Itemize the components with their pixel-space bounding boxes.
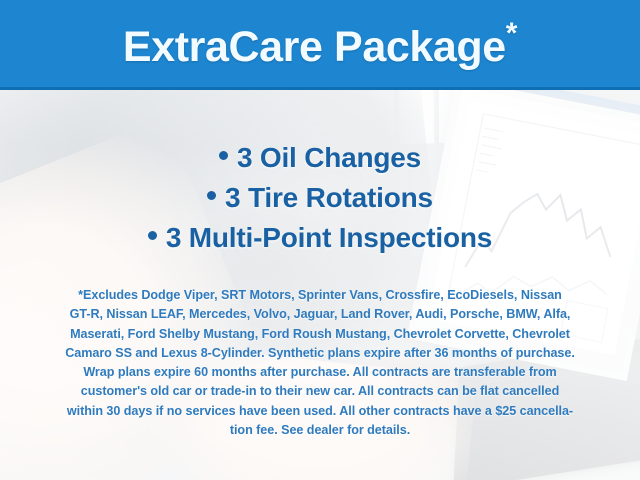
- disclaimer-line: within 30 days if no services have been …: [28, 402, 612, 421]
- benefit-item-label: 3 Multi-Point Inspections: [166, 222, 492, 253]
- disclaimer-line: Wrap plans expire 60 months after purcha…: [28, 363, 612, 382]
- bullet-dot-icon: [148, 231, 157, 240]
- page-title-text: ExtraCare Package: [123, 23, 506, 71]
- benefits-list: 3 Oil Changes 3 Tire Rotations 3 Multi-P…: [0, 138, 640, 258]
- page-title-asterisk: *: [506, 17, 517, 50]
- disclaimer-line: Maserati, Ford Shelby Mustang, Ford Rous…: [28, 325, 612, 344]
- bullet-dot-icon: [207, 191, 216, 200]
- benefit-item-multi-point-inspections: 3 Multi-Point Inspections: [0, 218, 640, 258]
- disclaimer-line: customer's old car or trade-in to their …: [28, 382, 612, 401]
- benefit-item-label: 3 Tire Rotations: [225, 182, 433, 213]
- disclaimer-line: Camaro SS and Lexus 8-Cylinder. Syntheti…: [28, 344, 612, 363]
- disclaimer-line: tion fee. See dealer for details.: [28, 421, 612, 440]
- benefit-item-label: 3 Oil Changes: [237, 142, 421, 173]
- bullet-dot-icon: [219, 151, 228, 160]
- benefit-item-tire-rotations: 3 Tire Rotations: [0, 178, 640, 218]
- header-banner: ExtraCare Package*: [0, 0, 640, 90]
- page-title: ExtraCare Package*: [123, 19, 517, 69]
- extracare-package-poster: ExtraCare Package* 3 Oil Changes 3 Tire …: [0, 0, 640, 480]
- disclaimer-line: *Excludes Dodge Viper, SRT Motors, Sprin…: [28, 286, 612, 305]
- benefit-item-oil-changes: 3 Oil Changes: [0, 138, 640, 178]
- disclaimer-text: *Excludes Dodge Viper, SRT Motors, Sprin…: [28, 286, 612, 440]
- disclaimer-line: GT-R, Nissan LEAF, Mercedes, Volvo, Jagu…: [28, 305, 612, 324]
- poster-body: 3 Oil Changes 3 Tire Rotations 3 Multi-P…: [0, 90, 640, 480]
